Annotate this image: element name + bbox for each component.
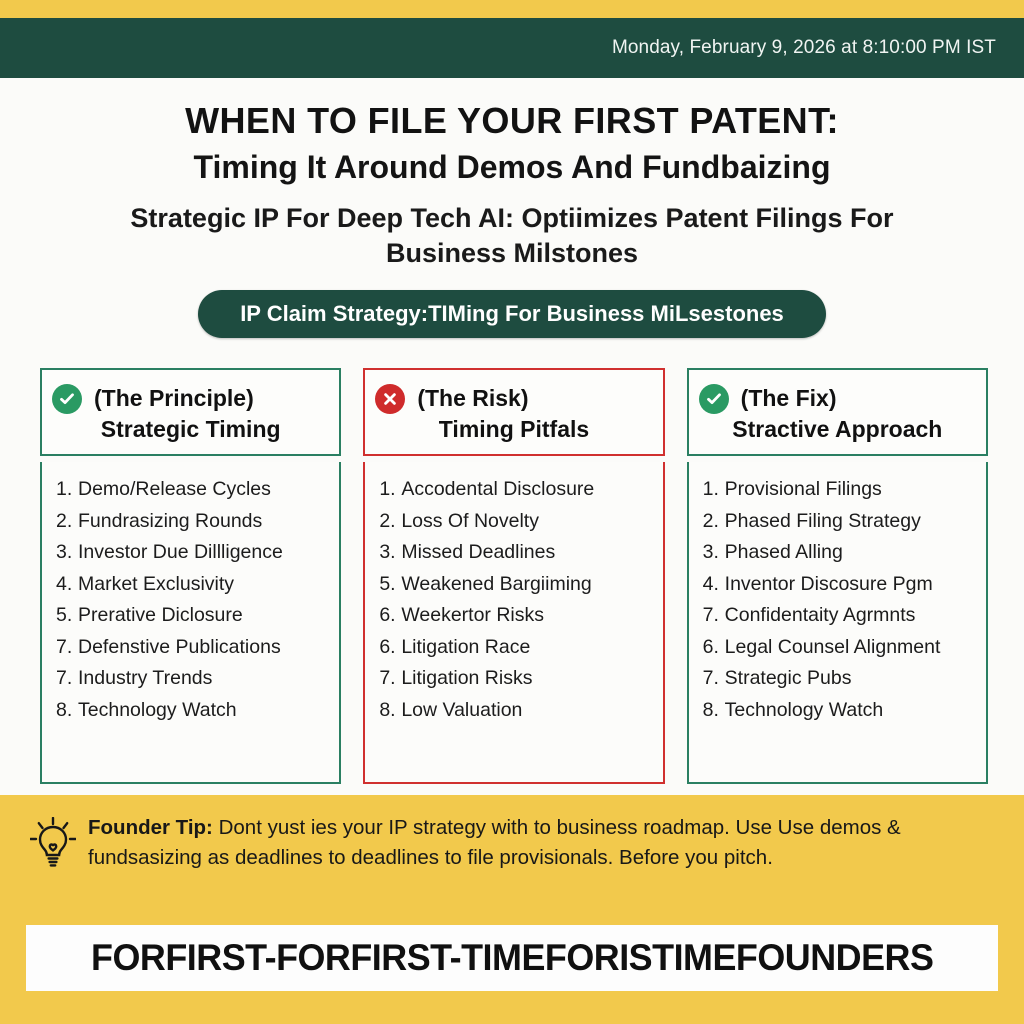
list-item: 6.Litigation Race (379, 632, 652, 664)
page-title-line1: WHEN TO FILE YOUR FIRST PATENT: (0, 100, 1024, 142)
list-number: 1. (379, 474, 401, 506)
list-number: 5. (56, 600, 78, 632)
list-text: Defenstive Publications (78, 636, 281, 658)
list-number: 3. (703, 537, 725, 569)
list-number: 7. (379, 663, 401, 695)
list-item: 2.Loss Of Novelty (379, 506, 652, 538)
column-fix: (The Fix) Stractive Approach 1.Provision… (687, 368, 988, 784)
list-text: Industry Trends (78, 667, 212, 689)
banner-pill-wrap: IP Claim Strategy:TIMing For Business Mi… (0, 290, 1024, 338)
column-header-fix: (The Fix) Stractive Approach (687, 368, 988, 456)
list-number: 6. (703, 632, 725, 664)
list-item: 7.Litigation Risks (379, 663, 652, 695)
list-item: 5.Prerative Diclosure (56, 600, 329, 632)
list-text: Weekertor Risks (401, 604, 544, 626)
list-number: 2. (703, 506, 725, 538)
list-item: 6.Weekertor Risks (379, 600, 652, 632)
list-risk: 1.Accodental Disclosure 2.Loss Of Novelt… (379, 474, 652, 727)
list-item: 1.Provisional Filings (703, 474, 976, 506)
title-block: WHEN TO FILE YOUR FIRST PATENT: Timing I… (0, 88, 1024, 272)
list-item: 2.Phased Filing Strategy (703, 506, 976, 538)
footer-text: FORFIRST-FORFIRST-TIMEFORISTIMEFOUNDERS (91, 937, 933, 979)
list-item: 4.Market Exclusivity (56, 569, 329, 601)
list-number: 3. (56, 537, 78, 569)
founder-tip-band: Founder Tip: Dont yust ies your IP strat… (0, 795, 1024, 916)
list-item: 5.Weakened Bargiiming (379, 569, 652, 601)
column-title: Timing Pitfals (439, 416, 589, 443)
list-number: 8. (56, 695, 78, 727)
list-text: Fundrasizing Rounds (78, 510, 262, 532)
list-item: 3.Missed Deadlines (379, 537, 652, 569)
list-principle: 1.Demo/Release Cycles 2.Fundrasizing Rou… (56, 474, 329, 727)
list-item: 4.Inventor Discosure Pgm (703, 569, 976, 601)
list-number: 6. (379, 600, 401, 632)
list-item: 1.Demo/Release Cycles (56, 474, 329, 506)
page-title-line2: Timing It Around Demos And Fundbaizing (0, 148, 1024, 186)
list-text: Confidentaity Agrmnts (725, 604, 916, 626)
list-text: Investor Due Dillligence (78, 541, 283, 563)
list-number: 3. (379, 537, 401, 569)
list-number: 2. (56, 506, 78, 538)
column-body-risk: 1.Accodental Disclosure 2.Loss Of Novelt… (363, 462, 664, 784)
infographic-page: Monday, February 9, 2026 at 8:10:00 PM I… (0, 0, 1024, 1024)
list-number: 2. (379, 506, 401, 538)
list-number: 7. (703, 600, 725, 632)
list-item: 7.Defenstive Publications (56, 632, 329, 664)
founder-tip-label: Founder Tip: (88, 816, 213, 839)
list-text: Weakened Bargiiming (401, 573, 591, 595)
list-text: Inventor Discosure Pgm (725, 573, 933, 595)
footer-box: FORFIRST-FORFIRST-TIMEFORISTIMEFOUNDERS (26, 925, 998, 991)
list-item: 6.Legal Counsel Alignment (703, 632, 976, 664)
list-item: 3.Phased Alling (703, 537, 976, 569)
list-number: 4. (703, 569, 725, 601)
column-body-fix: 1.Provisional Filings 2.Phased Filing St… (687, 462, 988, 784)
list-item: 7.Strategic Pubs (703, 663, 976, 695)
list-number: 1. (56, 474, 78, 506)
list-text: Market Exclusivity (78, 573, 234, 595)
column-header-principle: (The Principle) Strategic Timing (40, 368, 341, 456)
list-text: Missed Deadlines (401, 541, 555, 563)
list-text: Strategic Pubs (725, 667, 852, 689)
column-kicker: (The Risk) (417, 385, 528, 412)
list-item: 8.Technology Watch (56, 695, 329, 727)
page-subtitle: Strategic IP For Deep Tech AI: Optiimize… (77, 201, 947, 272)
list-item: 7.Confidentaity Agrmnts (703, 600, 976, 632)
list-text: Legal Counsel Alignment (725, 636, 941, 658)
list-number: 4. (56, 569, 78, 601)
list-number: 5. (379, 569, 401, 601)
list-text: Litigation Risks (401, 667, 532, 689)
list-item: 8.Technology Watch (703, 695, 976, 727)
list-number: 7. (703, 663, 725, 695)
list-text: Prerative Diclosure (78, 604, 243, 626)
list-item: 7.Industry Trends (56, 663, 329, 695)
list-number: 7. (56, 632, 78, 664)
column-risk: (The Risk) Timing Pitfals 1.Accodental D… (363, 368, 664, 784)
list-item: 2.Fundrasizing Rounds (56, 506, 329, 538)
list-text: Technology Watch (78, 699, 237, 721)
list-number: 8. (703, 695, 725, 727)
list-text: Phased Alling (725, 541, 843, 563)
check-circle-icon (699, 384, 729, 414)
list-text: Demo/Release Cycles (78, 478, 271, 500)
column-kicker: (The Principle) (94, 385, 254, 412)
header-bar: Monday, February 9, 2026 at 8:10:00 PM I… (0, 18, 1024, 78)
list-item: 8.Low Valuation (379, 695, 652, 727)
column-body-principle: 1.Demo/Release Cycles 2.Fundrasizing Rou… (40, 462, 341, 784)
banner-pill: IP Claim Strategy:TIMing For Business Mi… (198, 290, 826, 338)
list-text: Technology Watch (725, 699, 884, 721)
list-text: Provisional Filings (725, 478, 882, 500)
list-number: 8. (379, 695, 401, 727)
list-number: 6. (379, 632, 401, 664)
columns-container: (The Principle) Strategic Timing 1.Demo/… (40, 368, 988, 784)
column-kicker: (The Fix) (741, 385, 837, 412)
list-item: 1.Accodental Disclosure (379, 474, 652, 506)
timestamp-label: Monday, February 9, 2026 at 8:10:00 PM I… (612, 37, 1024, 59)
list-number: 7. (56, 663, 78, 695)
column-title: Strategic Timing (101, 416, 281, 443)
top-accent-strip (0, 0, 1024, 18)
check-circle-icon (52, 384, 82, 414)
list-item: 3.Investor Due Dillligence (56, 537, 329, 569)
x-circle-icon (375, 384, 405, 414)
list-text: Litigation Race (401, 636, 530, 658)
column-principle: (The Principle) Strategic Timing 1.Demo/… (40, 368, 341, 784)
founder-tip-text: Founder Tip: Dont yust ies your IP strat… (88, 813, 994, 872)
list-fix: 1.Provisional Filings 2.Phased Filing St… (703, 474, 976, 727)
list-number: 1. (703, 474, 725, 506)
lightbulb-icon (30, 817, 76, 874)
list-text: Accodental Disclosure (401, 478, 594, 500)
column-header-risk: (The Risk) Timing Pitfals (363, 368, 664, 456)
column-title: Stractive Approach (732, 416, 942, 443)
list-text: Loss Of Novelty (401, 510, 539, 532)
list-text: Low Valuation (401, 699, 522, 721)
list-text: Phased Filing Strategy (725, 510, 921, 532)
